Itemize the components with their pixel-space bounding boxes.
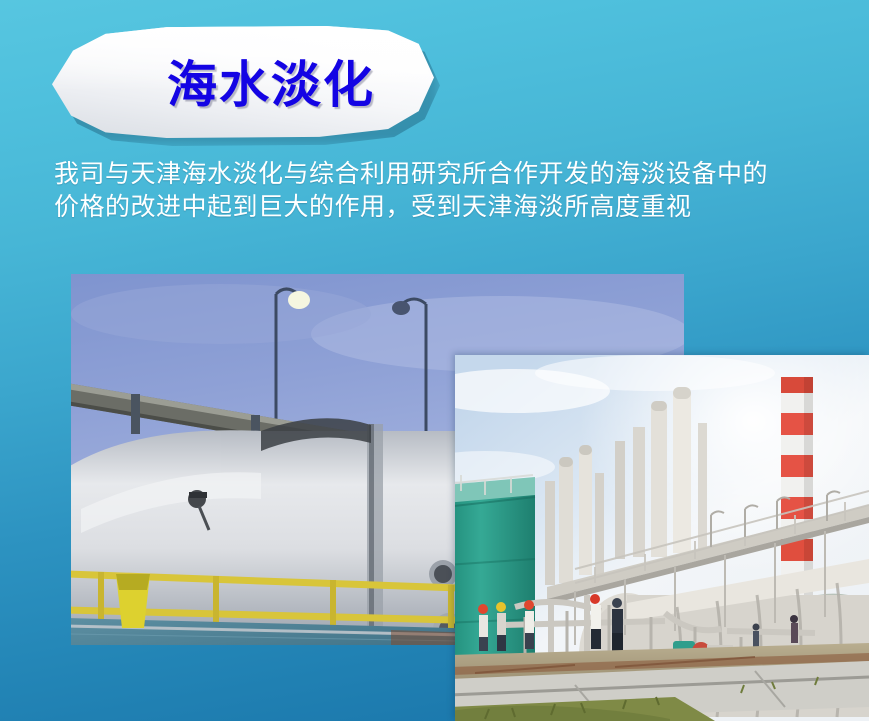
description-line-2: 价格的改进中起到巨大的作用，受到天津海淡所高度重视 bbox=[54, 190, 869, 223]
title-badge: 海水淡化 bbox=[52, 26, 434, 138]
description-text: 我司与天津海水淡化与综合利用研究所合作开发的海淡设备中的 价格的改进中起到巨大的… bbox=[54, 157, 869, 223]
description-line-1: 我司与天津海水淡化与综合利用研究所合作开发的海淡设备中的 bbox=[54, 157, 869, 190]
desalination-plant-overview-photo bbox=[455, 355, 869, 721]
green-tank bbox=[455, 475, 535, 655]
slide-root: 海水淡化 我司与天津海水淡化与综合利用研究所合作开发的海淡设备中的 价格的改进中… bbox=[0, 0, 869, 721]
title-badge-body: 海水淡化 bbox=[52, 26, 434, 138]
plant-overview-scene bbox=[455, 355, 869, 721]
page-title: 海水淡化 bbox=[167, 60, 375, 110]
